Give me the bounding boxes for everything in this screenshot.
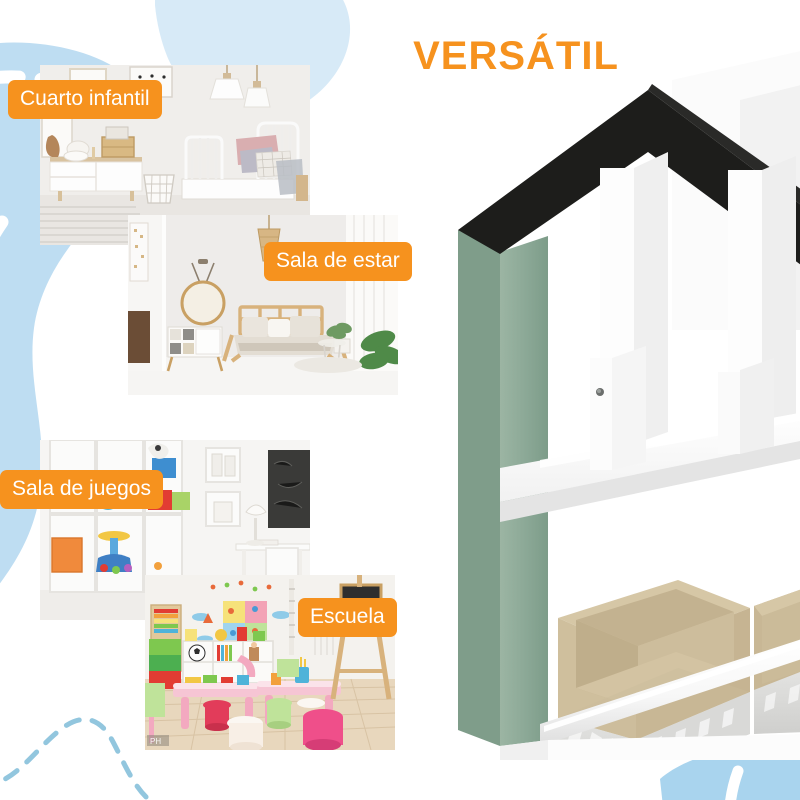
svg-text:PH: PH bbox=[150, 737, 161, 746]
product-image bbox=[440, 40, 800, 760]
scene-label-playroom: Sala de juegos bbox=[0, 470, 163, 509]
marketing-banner: VERSÁTIL bbox=[0, 0, 800, 800]
scene-label-school: Escuela bbox=[298, 598, 397, 637]
scene-label-kidsroom: Cuarto infantil bbox=[8, 80, 162, 119]
scene-label-livingroom: Sala de estar bbox=[264, 242, 412, 281]
